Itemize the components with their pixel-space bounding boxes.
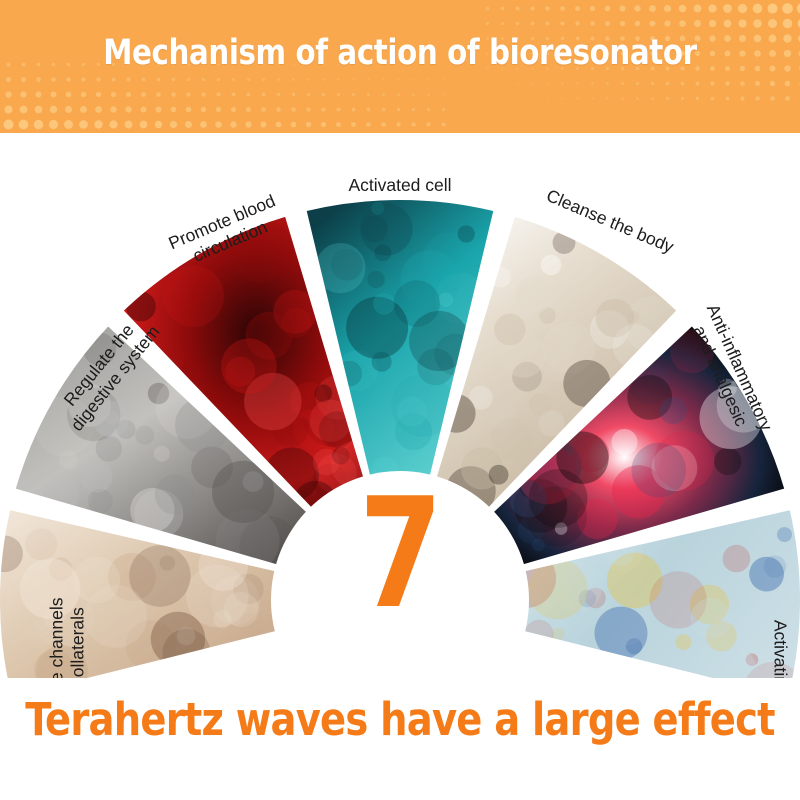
segment-label-activated-cell: Activated cell (300, 175, 500, 196)
footer-headline: Terahertz waves have a large effect (20, 693, 780, 746)
infographic-page: Mechanism of action of bioresonator (0, 0, 800, 800)
header-banner: Mechanism of action of bioresonator (0, 0, 800, 133)
page-title: Mechanism of action of bioresonator (28, 33, 772, 73)
segment-label-activating-cell: Activating cell (770, 573, 791, 678)
segment-label-dredge-channels: Dredge channels and collaterals (46, 559, 87, 678)
center-count-number: 7 (48, 478, 752, 630)
